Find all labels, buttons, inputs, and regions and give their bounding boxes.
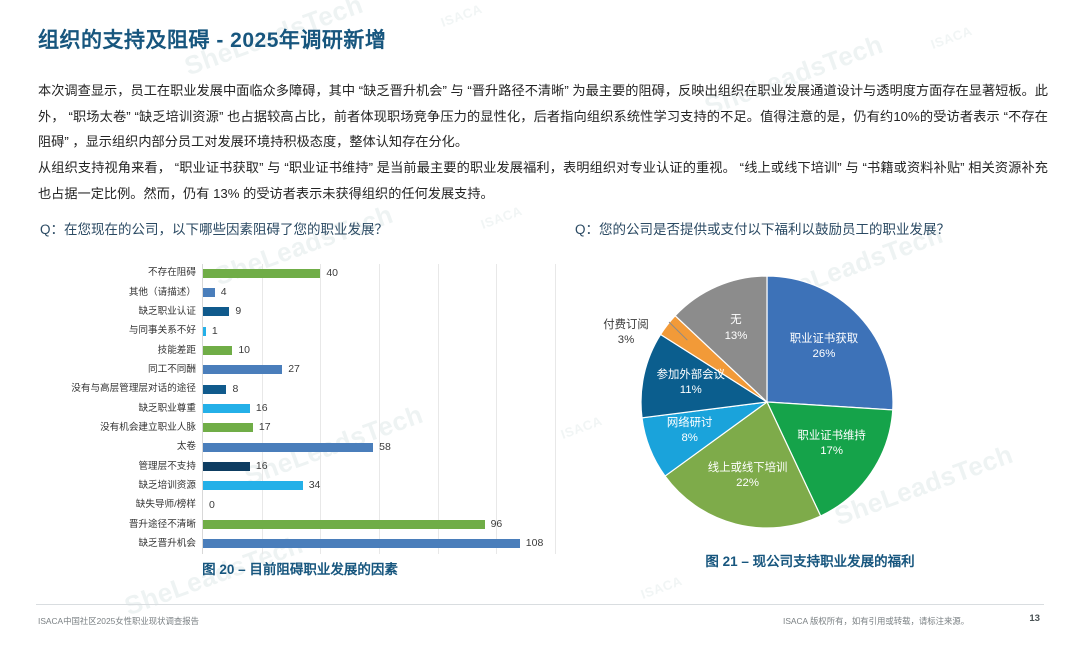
bar-rect (203, 539, 520, 548)
pie-slice-percent: 11% (631, 383, 751, 398)
bar-category-label: 缺乏晋升机会 (45, 539, 203, 549)
pie-slice-percent: 3% (583, 333, 669, 348)
pie-slice-percent: 13% (676, 329, 796, 344)
bar-chart-caption: 图 20 – 目前阻碍职业发展的因素 (40, 558, 560, 578)
bar-rect (203, 288, 215, 297)
bar-value-label: 27 (288, 364, 300, 375)
bar-value-label: 108 (526, 538, 544, 549)
bar-category-label: 其他（请描述） (45, 288, 203, 298)
pie-slice-percent: 26% (764, 347, 884, 362)
pie-chart: 职业证书获取26%职业证书维持17%线上或线下培训22%网络研讨8%参加外部会议… (575, 256, 1045, 556)
paragraph-1: 本次调查显示，员工在职业发展中面临众多障碍，其中 “缺乏晋升机会” 与 “晋升路… (38, 78, 1048, 155)
bar-rect (203, 365, 282, 374)
bar-value-label: 0 (209, 500, 215, 511)
pie-slice-percent: 17% (772, 444, 892, 459)
footer-right-text: ISACA 版权所有，如有引用或转载，请标注来源。 (783, 615, 969, 627)
pie-slice-percent: 8% (630, 431, 750, 446)
bar-row: 晋升途径不清晰96 (203, 515, 554, 533)
watermark: ISACA (639, 573, 684, 602)
bar-category-label: 没有机会建立职业人脉 (45, 423, 203, 433)
bar-category-label: 技能差距 (45, 346, 203, 356)
bar-rect (203, 307, 229, 316)
bar-row: 缺乏培训资源34 (203, 477, 554, 495)
bar-rect (203, 520, 485, 529)
body-text: 本次调查显示，员工在职业发展中面临众多障碍，其中 “缺乏晋升机会” 与 “晋升路… (38, 78, 1048, 207)
bar-row: 没有与高层管理层对话的途径8 (203, 380, 554, 398)
bar-rect (203, 462, 250, 471)
pie-chart-panel: Q：您的公司是否提供或支付以下福利以鼓励员工的职业发展？ 职业证书获取26%职业… (575, 218, 1045, 570)
pie-slice-label: 线上或线下培训22% (688, 461, 808, 492)
bar-rect (203, 404, 250, 413)
bar-category-label: 太卷 (45, 442, 203, 452)
page-title: 组织的支持及阻碍 - 2025年调研新增 (38, 24, 386, 54)
pie-chart-question: Q：您的公司是否提供或支付以下福利以鼓励员工的职业发展？ (575, 218, 1045, 238)
pie-slice-percent: 22% (688, 476, 808, 491)
bar-rect (203, 481, 303, 490)
pie-svg (627, 262, 927, 562)
bar-rect (203, 269, 320, 278)
bar-value-label: 34 (309, 480, 321, 491)
bar-category-label: 管理层不支持 (45, 462, 203, 472)
pie-slice-label: 参加外部会议11% (631, 368, 751, 399)
paragraph-2: 从组织支持视角来看， “职业证书获取” 与 “职业证书维持” 是当前最主要的职业… (38, 155, 1048, 206)
bar-chart: 不存在阻碍40其他（请描述）4缺乏职业认证9与同事关系不好1技能差距10同工不同… (40, 264, 560, 554)
bar-value-label: 16 (256, 403, 268, 414)
bar-rect (203, 423, 253, 432)
bar-row: 其他（请描述）4 (203, 283, 554, 301)
bar-value-label: 58 (379, 442, 391, 453)
bar-value-label: 8 (232, 384, 238, 395)
bar-rect (203, 327, 206, 336)
bar-rect (203, 346, 232, 355)
bar-row: 缺乏晋升机会108 (203, 535, 554, 553)
bar-value-label: 4 (221, 287, 227, 298)
bar-value-label: 10 (238, 345, 250, 356)
bar-row: 与同事关系不好1 (203, 322, 554, 340)
pie-slice-label: 付费订阅3% (583, 318, 669, 349)
bar-category-label: 没有与高层管理层对话的途径 (45, 384, 203, 394)
page-number: 13 (1029, 613, 1040, 624)
bar-row: 缺失导师/榜样0 (203, 496, 554, 514)
bar-value-label: 1 (212, 326, 218, 337)
bar-category-label: 与同事关系不好 (45, 326, 203, 336)
gridline (555, 264, 556, 554)
bar-plot-area: 不存在阻碍40其他（请描述）4缺乏职业认证9与同事关系不好1技能差距10同工不同… (202, 264, 554, 554)
bar-value-label: 9 (235, 306, 241, 317)
bar-value-label: 17 (259, 422, 271, 433)
bar-row: 太卷58 (203, 438, 554, 456)
bar-category-label: 同工不同酬 (45, 365, 203, 375)
bar-category-label: 晋升途径不清晰 (45, 520, 203, 530)
bar-chart-panel: Q：在您现在的公司，以下哪些因素阻碍了您的职业发展？ 不存在阻碍40其他（请描述… (40, 218, 560, 578)
bar-category-label: 缺失导师/榜样 (45, 500, 203, 510)
bar-row: 缺乏职业尊重16 (203, 399, 554, 417)
bar-value-label: 96 (491, 519, 503, 530)
bar-row: 不存在阻碍40 (203, 264, 554, 282)
watermark: ISACA (439, 1, 484, 30)
pie-slice-label: 网络研讨8% (630, 416, 750, 447)
bar-category-label: 不存在阻碍 (45, 268, 203, 278)
pie-slice-label: 无13% (676, 313, 796, 344)
bar-rect (203, 443, 373, 452)
bar-chart-question: Q：在您现在的公司，以下哪些因素阻碍了您的职业发展？ (40, 218, 560, 238)
footer-left-text: ISACA中国社区2025女性职业现状调查报告 (38, 615, 199, 627)
footer-divider (36, 604, 1044, 605)
bar-category-label: 缺乏培训资源 (45, 481, 203, 491)
bar-row: 没有机会建立职业人脉17 (203, 419, 554, 437)
watermark: ISACA (929, 23, 974, 52)
bar-value-label: 16 (256, 461, 268, 472)
pie-slice-label: 职业证书维持17% (772, 429, 892, 460)
bar-rect (203, 385, 226, 394)
bar-category-label: 缺乏职业认证 (45, 307, 203, 317)
bar-value-label: 40 (326, 268, 338, 279)
bar-category-label: 缺乏职业尊重 (45, 404, 203, 414)
bar-row: 管理层不支持16 (203, 457, 554, 475)
bar-row: 同工不同酬27 (203, 361, 554, 379)
bar-row: 缺乏职业认证9 (203, 303, 554, 321)
bar-row: 技能差距10 (203, 341, 554, 359)
